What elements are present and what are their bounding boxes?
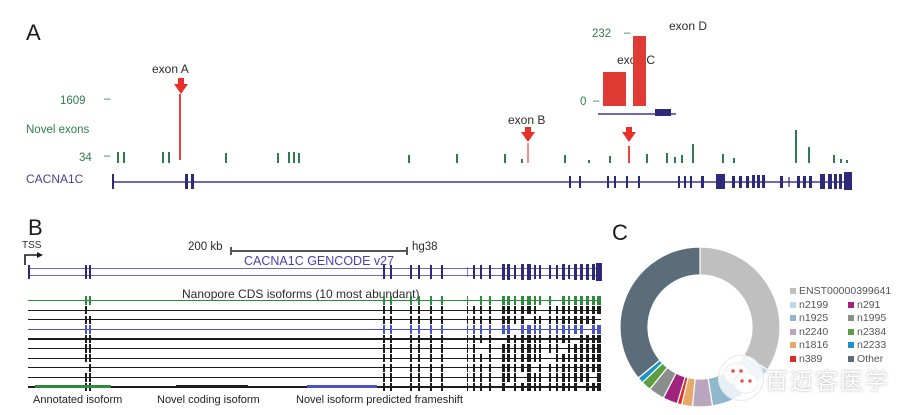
isoform-exon	[89, 296, 91, 304]
isoform-exon	[562, 306, 565, 314]
isoform-exon	[467, 373, 468, 381]
isoform-exon	[580, 335, 583, 343]
isoform-exon	[592, 364, 595, 372]
isoform-exon	[85, 325, 87, 333]
isoform-exon	[89, 364, 91, 372]
isoform-exon	[473, 344, 475, 352]
isoform-exon	[89, 373, 91, 381]
isoform-exon	[592, 316, 595, 324]
isoform-exon	[418, 296, 420, 304]
isoform-exon	[507, 316, 510, 324]
isoform-exon	[85, 335, 87, 343]
isoform-exon	[467, 296, 468, 304]
isoform-exon	[597, 364, 601, 372]
isoform-exon	[418, 354, 420, 362]
isoform-exon	[527, 344, 531, 352]
isoform-exon	[521, 364, 524, 372]
isoform-exon	[480, 296, 482, 304]
donut-legend-swatch	[848, 342, 854, 348]
isoform-exon	[549, 316, 551, 324]
exon-a-peak	[179, 94, 181, 160]
isoform-exon	[390, 383, 392, 391]
isoform-exon	[580, 306, 583, 314]
isoform-exon	[586, 296, 589, 304]
isoform-exon	[514, 306, 516, 314]
isoform-exon	[383, 373, 385, 381]
isoform-exon	[586, 383, 589, 391]
isoform-exon	[89, 316, 91, 324]
donut-legend-label: n1816	[799, 339, 828, 351]
isoform-exon	[418, 316, 420, 324]
isoform-exon	[441, 296, 443, 304]
isoform-exon	[85, 354, 87, 362]
isoform-exon	[580, 373, 583, 381]
isoform-exon	[480, 325, 482, 333]
legend-swatch-annotated	[35, 385, 111, 388]
isoform-exon	[383, 344, 385, 352]
inset-gene-exon	[655, 109, 671, 116]
inset-axis-max-tick: –	[624, 27, 630, 39]
isoform-exon	[514, 383, 516, 391]
isoform-exon	[418, 325, 420, 333]
isoform-exon	[441, 354, 443, 362]
isoform-exon	[473, 383, 475, 391]
donut-legend-label: n2384	[857, 326, 886, 338]
isoform-exon	[562, 335, 565, 343]
isoform-exon	[574, 364, 577, 372]
isoform-exon	[502, 306, 505, 314]
isoform-exon	[539, 383, 541, 391]
isoform-exon	[521, 296, 524, 304]
isoform-exon	[410, 335, 412, 343]
exon-d-arrowstem	[626, 127, 632, 134]
panel-a-letter: A	[26, 20, 41, 46]
panel-a-track-label: Novel exons	[26, 124, 89, 136]
donut-legend-label: n1995	[857, 312, 886, 324]
isoform-exon	[574, 316, 577, 324]
isoform-exon	[502, 316, 505, 324]
isoform-exon	[556, 335, 558, 343]
isoform-exon	[430, 316, 432, 324]
isoform-exon	[521, 335, 524, 343]
isoform-exon	[539, 296, 541, 304]
isoform-exon	[489, 344, 491, 352]
isoform-exon	[580, 316, 583, 324]
isoform-exon	[514, 296, 516, 304]
isoform-exon	[480, 373, 482, 381]
isoform-exon	[507, 373, 510, 381]
isoform-exon	[489, 316, 491, 324]
donut-legend-label: n1925	[799, 312, 828, 324]
isoform-exon	[568, 364, 570, 372]
isoform-exon	[514, 316, 516, 324]
exon-a-label: exon A	[152, 62, 189, 76]
isoform-exon	[586, 335, 589, 343]
isoform-exon	[556, 373, 558, 381]
isoform-exon	[418, 364, 420, 372]
isoform-exon	[507, 335, 510, 343]
isoform-exon	[534, 316, 536, 324]
isoform-exon	[574, 306, 577, 314]
isoform-exon	[549, 383, 551, 391]
inset-bar-exon-d	[633, 36, 646, 106]
isoform-exon	[502, 296, 505, 304]
isoform-exon	[534, 325, 536, 333]
isoform-exon	[502, 344, 505, 352]
isoform-exon	[562, 383, 565, 391]
isoform-exon	[586, 354, 589, 362]
donut-legend-swatch	[848, 302, 854, 308]
isoform-exon	[539, 354, 541, 362]
isoform-exon	[489, 354, 491, 362]
isoform-exon	[514, 373, 516, 381]
isoform-exon	[89, 335, 91, 343]
isoform-exon	[418, 344, 420, 352]
donut-legend-swatch	[790, 288, 796, 294]
isoform-exon	[514, 344, 516, 352]
isoform-exon	[441, 325, 443, 333]
isoform-exon	[473, 354, 475, 362]
isoform-exon	[574, 383, 577, 391]
isoform-exon	[592, 335, 595, 343]
isoform-exon	[383, 383, 385, 391]
isoform-exon	[502, 354, 505, 362]
isoform-exon	[586, 373, 589, 381]
isoform-exon	[430, 373, 432, 381]
isoform-exon	[556, 306, 558, 314]
isoform-exon	[534, 373, 536, 381]
isoform-exon	[534, 306, 536, 314]
isoform-exon	[383, 354, 385, 362]
isoform-exon	[539, 325, 541, 333]
isoform-exon	[390, 354, 392, 362]
scale-bar-label: 200 kb	[188, 241, 223, 253]
exon-b-arrowstem	[525, 127, 531, 134]
isoform-exon	[441, 383, 443, 391]
isoform-exon	[556, 354, 558, 362]
gencode-title: CACNA1C GENCODE v27	[244, 254, 394, 268]
isoform-exon	[556, 364, 558, 372]
isoform-exon	[410, 316, 412, 324]
isoform-exon	[586, 316, 589, 324]
isoform-exon	[473, 373, 475, 381]
isoform-exon	[597, 344, 601, 352]
isoform-exon	[410, 364, 412, 372]
isoform-exon	[502, 325, 505, 333]
isoform-exon	[562, 296, 565, 304]
inset-axis-min: 0	[580, 96, 586, 108]
legend-label-annotated: Annotated isoform	[33, 394, 122, 406]
isoform-exon	[539, 364, 541, 372]
donut-legend-swatch	[790, 302, 796, 308]
isoform-exon	[410, 373, 412, 381]
isoform-exon	[534, 296, 536, 304]
exon-a-arrowstem	[178, 78, 184, 86]
isoform-exon	[441, 344, 443, 352]
isoform-exon	[574, 354, 577, 362]
isoform-exon	[597, 354, 601, 362]
isoform-exon	[390, 335, 392, 343]
isoform-exon	[597, 373, 601, 381]
isoform-exon	[430, 296, 432, 304]
isoform-exon	[539, 335, 541, 343]
isoform-exon	[390, 296, 392, 304]
isoform-exon	[592, 296, 595, 304]
isoform-exon	[568, 373, 570, 381]
isoform-exon	[568, 383, 570, 391]
isoform-exon	[527, 383, 531, 391]
isoform-exon	[580, 354, 583, 362]
isoform-row	[28, 329, 601, 330]
isoform-exon	[383, 335, 385, 343]
donut-legend-swatch	[848, 329, 854, 335]
isoform-exon	[539, 373, 541, 381]
watermark-logo	[718, 355, 764, 401]
isoform-exon	[489, 335, 491, 343]
isoform-exon	[527, 373, 531, 381]
isoform-exon	[410, 296, 412, 304]
panel-a-axis-min-tick: –	[104, 150, 110, 162]
isoform-exon	[507, 296, 510, 304]
isoform-exon	[592, 325, 595, 333]
isoform-exon	[592, 306, 595, 314]
isoform-exon	[527, 335, 531, 343]
isoform-exon	[467, 325, 468, 333]
panel-a-axis-min: 34	[79, 152, 92, 164]
isoform-exon	[574, 325, 577, 333]
isoform-exon	[592, 354, 595, 362]
isoform-exon	[549, 325, 551, 333]
donut-legend-swatch	[848, 315, 854, 321]
isoform-exon	[568, 344, 570, 352]
isoform-exon	[521, 325, 524, 333]
isoform-exon	[549, 373, 551, 381]
isoform-exon	[89, 344, 91, 352]
isoform-exon	[580, 344, 583, 352]
isoform-exon	[527, 296, 531, 304]
isoform-exon	[480, 306, 482, 314]
isoform-exon	[430, 325, 432, 333]
isoform-exon	[467, 354, 468, 362]
inset-axis-min-tick: –	[593, 95, 599, 107]
watermark-text: 百迈客医学	[765, 362, 890, 396]
isoform-exon	[489, 383, 491, 391]
isoform-exon	[89, 354, 91, 362]
isoform-exon	[586, 364, 589, 372]
inset-axis-max: 232	[592, 28, 611, 40]
isoform-exon	[507, 344, 510, 352]
isoform-exon	[473, 335, 475, 343]
isoform-exon	[489, 296, 491, 304]
isoform-exon	[489, 373, 491, 381]
isoform-exon	[85, 373, 87, 381]
donut-slice-ENST00000399641	[700, 247, 780, 370]
isoform-exon	[568, 325, 570, 333]
donut-legend-label: n2240	[799, 326, 828, 338]
donut-legend-label: n291	[857, 299, 880, 311]
isoform-exon	[489, 325, 491, 333]
isoform-exon	[85, 344, 87, 352]
isoform-exon	[410, 306, 412, 314]
isoform-exon	[549, 344, 551, 352]
isoform-exon	[441, 373, 443, 381]
isoform-exon	[507, 354, 510, 362]
isoform-exon	[549, 364, 551, 372]
isoform-exon	[549, 296, 551, 304]
isoform-exon	[574, 296, 577, 304]
isoform-exon	[390, 344, 392, 352]
isoform-exon	[597, 325, 601, 333]
donut-legend-label: n2233	[857, 339, 886, 351]
isoform-exon	[597, 306, 601, 314]
isoform-exon	[430, 354, 432, 362]
isoform-exon	[534, 335, 536, 343]
isoform-exon	[489, 364, 491, 372]
isoform-exon	[549, 306, 551, 314]
isoform-exon	[592, 344, 595, 352]
isoform-exon	[527, 364, 531, 372]
isoform-exon	[390, 364, 392, 372]
isoform-exon	[586, 344, 589, 352]
isoform-exon	[527, 306, 531, 314]
isoform-exon	[568, 335, 570, 343]
exon-d-label: exon D	[669, 19, 707, 33]
isoform-exon	[467, 364, 468, 372]
isoform-exon	[568, 306, 570, 314]
isoform-exon	[521, 354, 524, 362]
isoform-exon	[556, 383, 558, 391]
isoform-exon	[568, 316, 570, 324]
isoform-exon	[85, 296, 87, 304]
isoform-exon	[597, 383, 601, 391]
isoform-exon	[580, 364, 583, 372]
isoform-exon	[473, 364, 475, 372]
isoform-exon	[586, 306, 589, 314]
legend-label-novel-coding: Novel coding isoform	[157, 394, 260, 406]
isoform-exon	[467, 306, 468, 314]
isoform-exon	[539, 344, 541, 352]
isoform-exon	[430, 306, 432, 314]
isoform-exon	[480, 364, 482, 372]
isoform-exon	[502, 383, 505, 391]
isoform-exon	[480, 383, 482, 391]
isoform-exon	[430, 335, 432, 343]
tss-label: TSS	[22, 240, 41, 251]
isoform-exon	[562, 316, 565, 324]
legend-swatch-novel-coding	[176, 385, 248, 388]
isoform-exon	[527, 354, 531, 362]
legend-label-frameshift: Novel isoform predicted frameshift	[296, 394, 463, 406]
isoform-exon	[514, 364, 516, 372]
isoform-exon	[534, 354, 536, 362]
isoform-exon	[574, 344, 577, 352]
isoform-exon	[507, 306, 510, 314]
isoform-exon	[441, 335, 443, 343]
isoform-exon	[418, 373, 420, 381]
isoform-exon	[418, 335, 420, 343]
isoform-exon	[521, 306, 524, 314]
isoform-exon	[580, 325, 583, 333]
isoform-exon	[514, 335, 516, 343]
isoform-exon	[556, 316, 558, 324]
isoform-exon	[410, 344, 412, 352]
isoform-exon	[383, 296, 385, 304]
isoform-exon	[507, 325, 510, 333]
isoform-exon	[562, 325, 565, 333]
donut-legend-swatch	[790, 342, 796, 348]
isoform-exon	[441, 364, 443, 372]
isoform-exon	[418, 383, 420, 391]
donut-legend-swatch	[790, 315, 796, 321]
isoform-exon	[418, 306, 420, 314]
exon-d-peak	[628, 146, 630, 163]
isoform-exon	[562, 354, 565, 362]
donut-legend-swatch	[790, 329, 796, 335]
isoform-exon	[556, 344, 558, 352]
isoform-exon	[467, 344, 468, 352]
isoform-exon	[580, 296, 583, 304]
isoform-exon	[507, 364, 510, 372]
isoform-exon	[410, 383, 412, 391]
isoform-exon	[574, 373, 577, 381]
isoform-exon	[480, 354, 482, 362]
isoform-exon	[89, 325, 91, 333]
isoform-exon	[480, 335, 482, 343]
isoform-exon	[521, 316, 524, 324]
panel-a-axis-max: 1609	[60, 95, 86, 107]
isoform-exon	[562, 364, 565, 372]
isoform-exon	[85, 316, 87, 324]
exon-b-peak	[527, 143, 529, 163]
isoform-exon	[390, 306, 392, 314]
isoform-exon	[467, 316, 468, 324]
isoform-exon	[556, 325, 558, 333]
isoform-exon	[534, 383, 536, 391]
isoform-exon	[383, 306, 385, 314]
isoform-exon	[539, 316, 541, 324]
isoform-exon	[410, 354, 412, 362]
inset-bar-exon-c	[603, 72, 626, 106]
panel-b-letter: B	[28, 215, 43, 241]
isoform-exon	[441, 306, 443, 314]
isoform-exon	[430, 383, 432, 391]
isoform-exon	[473, 316, 475, 324]
isoform-exon	[430, 364, 432, 372]
isoform-exon	[568, 296, 570, 304]
isoform-exon	[489, 306, 491, 314]
isoform-exon	[597, 296, 601, 304]
isoform-exon	[514, 354, 516, 362]
isoform-exon	[549, 335, 551, 343]
isoform-exon	[592, 383, 595, 391]
isoform-exon	[521, 383, 524, 391]
isoform-exon	[473, 325, 475, 333]
isoform-exon	[534, 344, 536, 352]
exon-b-label: exon B	[508, 113, 545, 127]
panel-a-gene-label: CACNA1C	[26, 172, 83, 186]
donut-slice-Other	[620, 247, 700, 378]
isoform-exon	[441, 316, 443, 324]
isoform-exon	[473, 306, 475, 314]
isoform-exon	[467, 335, 468, 343]
legend-swatch-frameshift	[307, 385, 377, 388]
isoform-exon	[383, 316, 385, 324]
isoform-exon	[383, 325, 385, 333]
isoform-exon	[521, 344, 524, 352]
donut-legend-label: ENST00000399641	[799, 285, 891, 297]
isoform-exon	[410, 325, 412, 333]
isoform-exon	[383, 364, 385, 372]
